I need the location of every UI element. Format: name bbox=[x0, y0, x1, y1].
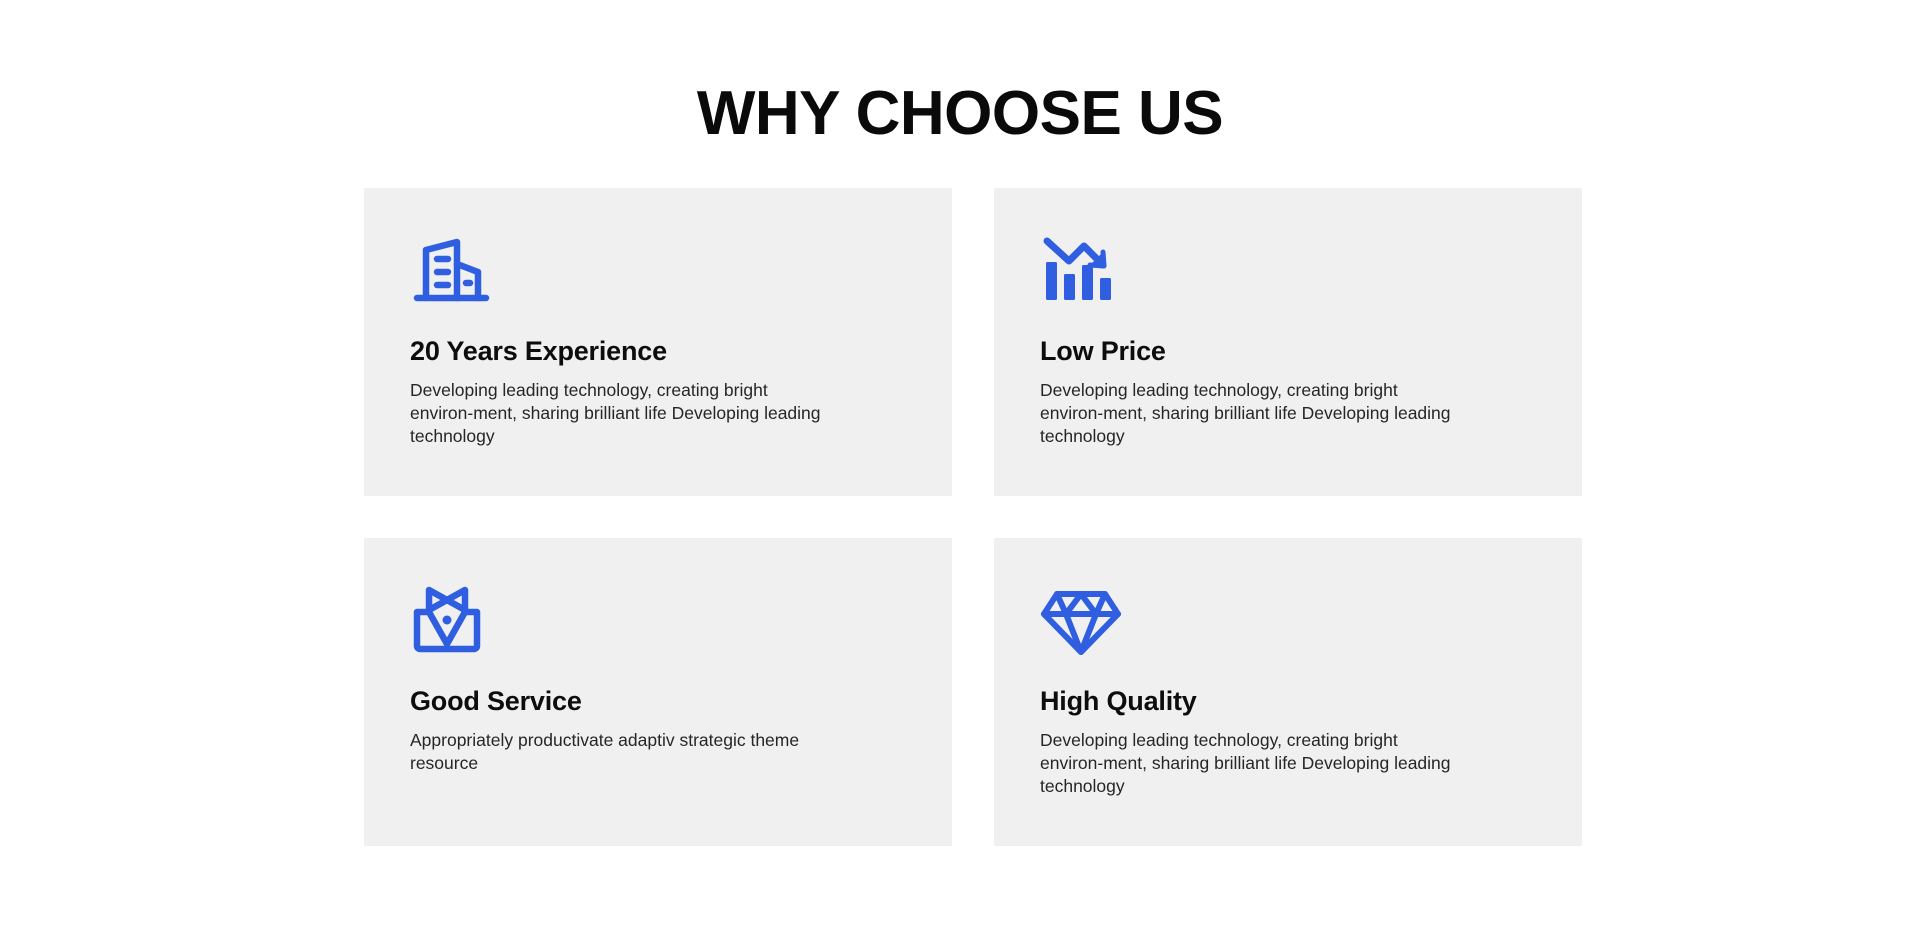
card-description: Developing leading technology, creating … bbox=[410, 379, 830, 448]
card-description: Developing leading technology, creating … bbox=[1040, 729, 1460, 798]
card-title: High Quality bbox=[1040, 684, 1536, 718]
card-title: Low Price bbox=[1040, 334, 1536, 368]
feature-card-low-price[interactable]: Low Price Developing leading technology,… bbox=[994, 188, 1582, 496]
office-building-icon bbox=[410, 234, 906, 306]
page-title: WHY CHOOSE US bbox=[0, 78, 1920, 150]
card-description: Developing leading technology, creating … bbox=[1040, 379, 1460, 448]
diamond-gem-icon bbox=[1040, 584, 1536, 656]
card-description: Appropriately productivate adaptiv strat… bbox=[410, 729, 830, 775]
bow-tie-waiter-icon bbox=[410, 584, 906, 656]
card-title: Good Service bbox=[410, 684, 906, 718]
feature-card-experience[interactable]: 20 Years Experience Developing leading t… bbox=[364, 188, 952, 496]
card-title: 20 Years Experience bbox=[410, 334, 906, 368]
feature-card-high-quality[interactable]: High Quality Developing leading technolo… bbox=[994, 538, 1582, 846]
feature-card-grid: 20 Years Experience Developing leading t… bbox=[364, 188, 1582, 846]
why-choose-us-section: WHY CHOOSE US 20 Years Experience Develo… bbox=[0, 0, 1920, 930]
feature-card-good-service[interactable]: Good Service Appropriately productivate … bbox=[364, 538, 952, 846]
declining-bar-chart-icon bbox=[1040, 234, 1536, 306]
